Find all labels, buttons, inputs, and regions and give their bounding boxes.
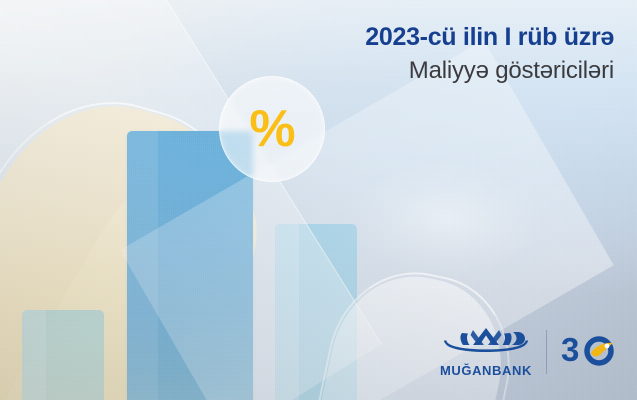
anniversary-badge: 3 [561, 330, 617, 375]
logo-lockup: MUĞANBANK 3 [440, 326, 617, 378]
financial-results-banner: % 2023-cü ilin I rüb üzrə Maliyyə göstər… [0, 0, 637, 400]
anniversary-30-icon: 3 [561, 330, 617, 375]
percent-icon: % [249, 103, 294, 155]
headline-line-2: Maliyyə göstəriciləri [365, 55, 614, 86]
svg-text:3: 3 [561, 331, 579, 368]
muganbank-logo: MUĞANBANK [440, 326, 532, 378]
percent-badge: % [219, 76, 325, 182]
headline-line-1: 2023-cü ilin I rüb üzrə [365, 22, 614, 53]
muganbank-wordmark: MUĞANBANK [440, 363, 532, 378]
logo-divider [546, 330, 547, 374]
headline-block: 2023-cü ilin I rüb üzrə Maliyyə göstəric… [365, 22, 614, 86]
muganbank-crown-icon [440, 326, 532, 361]
